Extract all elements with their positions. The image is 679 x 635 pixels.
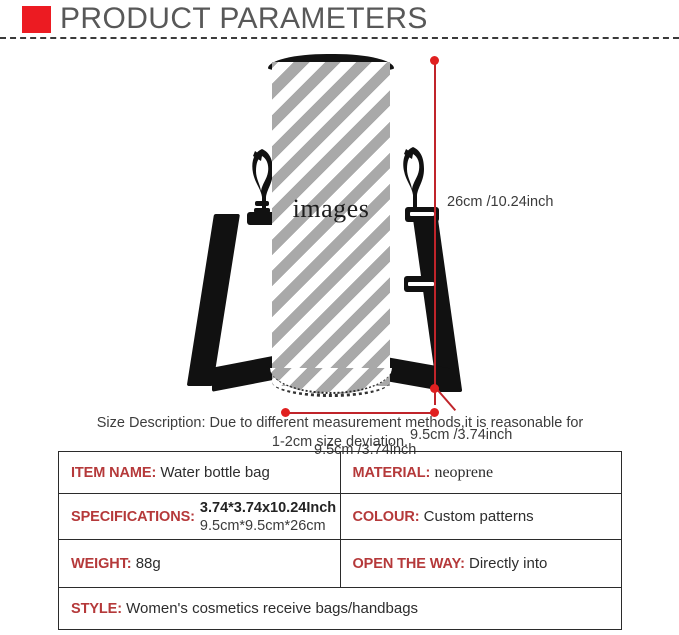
value-weight: 88g [136, 555, 161, 572]
label-colour: COLOUR: [353, 509, 420, 525]
table-row: WEIGHT: 88g OPEN THE WAY: Directly into [59, 540, 622, 588]
cell-style: STYLE: Women's cosmetics receive bags/ha… [59, 588, 622, 630]
specifications-inch: 3.74*3.74x10.24Inch [200, 500, 336, 516]
cell-open-the-way: OPEN THE WAY: Directly into [340, 540, 622, 588]
size-description-line-1: Size Description: Due to different measu… [40, 414, 640, 433]
cell-item-name: ITEM NAME: Water bottle bag [59, 452, 341, 494]
specifications-values: 3.74*3.74x10.24Inch 9.5cm*9.5cm*26cm [195, 499, 336, 535]
label-open-the-way: OPEN THE WAY: [353, 556, 465, 572]
bottle-body [272, 62, 390, 386]
value-style: Women's cosmetics receive bags/handbags [126, 600, 418, 617]
page-title: PRODUCT PARAMETERS [60, 0, 428, 38]
label-item-name: ITEM NAME: [71, 465, 156, 481]
dimension-endpoint-dot [430, 56, 439, 65]
image-watermark: images [272, 194, 390, 224]
parameters-table: ITEM NAME: Water bottle bag MATERIAL: ne… [58, 451, 622, 630]
dimension-endpoint-dot [430, 384, 439, 393]
value-material: neoprene [434, 464, 493, 481]
cell-weight: WEIGHT: 88g [59, 540, 341, 588]
cell-material: MATERIAL: neoprene [340, 452, 622, 494]
size-description: Size Description: Due to different measu… [40, 414, 640, 452]
value-colour: Custom patterns [424, 508, 534, 525]
size-description-line-2: 1-2cm size deviation. [40, 433, 640, 452]
value-item-name: Water bottle bag [160, 464, 270, 481]
right-strap-adjuster-buckle [404, 276, 438, 292]
buckle-slot [410, 212, 434, 216]
product-illustration: images 26cm /10.24inch 9.5cm /3.74inch 9… [0, 44, 679, 404]
specifications-wrapper: SPECIFICATIONS: 3.74*3.74x10.24Inch 9.5c… [71, 499, 328, 535]
page-header: PRODUCT PARAMETERS [0, 0, 679, 40]
label-material: MATERIAL: [353, 465, 431, 481]
left-strap-webbing [187, 214, 240, 386]
cell-colour: COLOUR: Custom patterns [340, 494, 622, 540]
table-row: STYLE: Women's cosmetics receive bags/ha… [59, 588, 622, 630]
table-row: SPECIFICATIONS: 3.74*3.74x10.24Inch 9.5c… [59, 494, 622, 540]
label-style: STYLE: [71, 601, 122, 617]
label-weight: WEIGHT: [71, 556, 132, 572]
value-open-the-way: Directly into [469, 555, 547, 572]
label-specifications: SPECIFICATIONS: [71, 509, 195, 525]
cell-specifications: SPECIFICATIONS: 3.74*3.74x10.24Inch 9.5c… [59, 494, 341, 540]
table-row: ITEM NAME: Water bottle bag MATERIAL: ne… [59, 452, 622, 494]
buckle-slot [408, 282, 434, 286]
product-parameters-page: PRODUCT PARAMETERS ima [0, 0, 679, 635]
red-square-bullet-icon [22, 6, 51, 33]
header-divider [0, 37, 679, 39]
height-dimension-line [434, 60, 436, 405]
height-dimension-label: 26cm /10.24inch [447, 194, 553, 210]
specifications-cm: 9.5cm*9.5cm*26cm [200, 518, 326, 534]
bottle-bottom-stitching [272, 382, 390, 397]
